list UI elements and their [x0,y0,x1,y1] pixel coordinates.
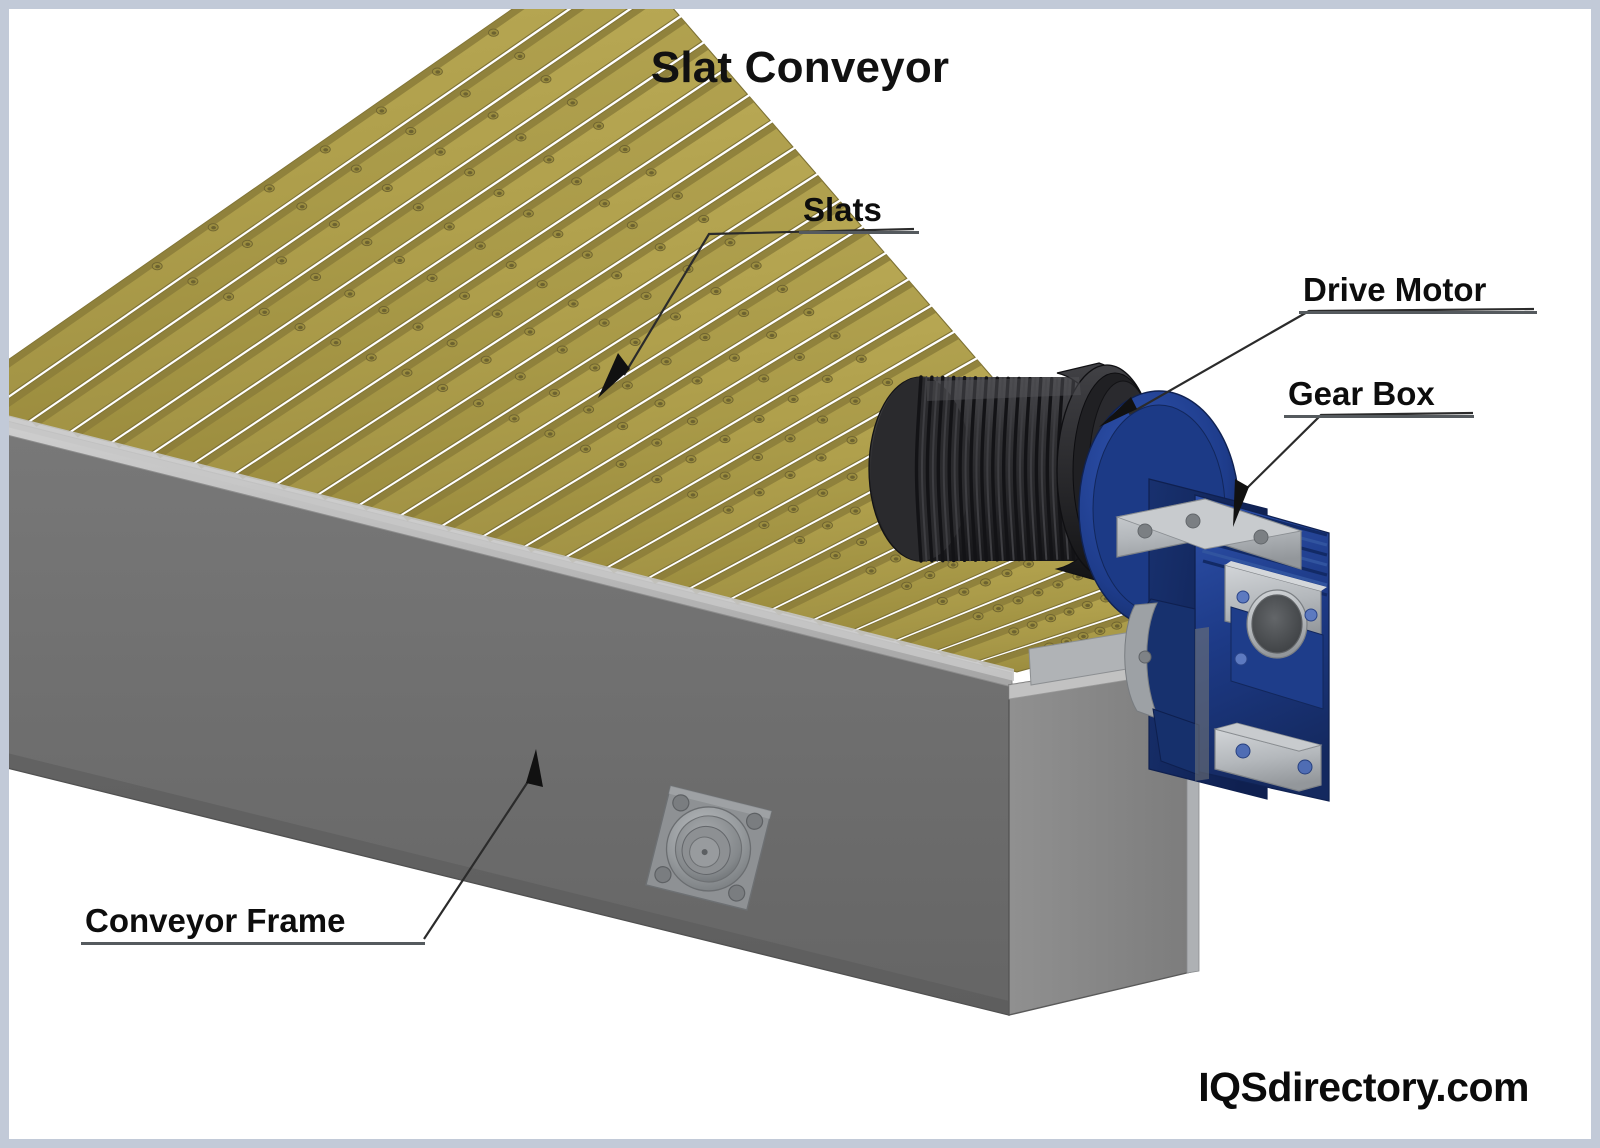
slat-screw [584,448,589,451]
callout-conveyor-frame: Conveyor Frame [81,904,425,945]
slat-screw [833,554,838,557]
slat-screw [928,574,933,577]
callout-slats-rule [799,231,919,234]
slat-screw [245,243,250,246]
callout-gear-box-label: Gear Box [1284,377,1474,415]
slat-screw [379,109,384,112]
slat-screw [478,244,483,247]
slat-screw [314,276,319,279]
slat-screw [155,265,160,268]
slat-screw [894,557,899,560]
slat-screw [819,456,824,459]
slat-screw [571,302,576,305]
slat-screw [860,541,865,544]
slat-screw [548,432,553,435]
slat-screw [497,192,502,195]
slat-screw [732,356,737,359]
slat-screw [450,342,455,345]
slat-screw [621,425,626,428]
slat-screw [833,334,838,337]
slat-screw [742,312,747,315]
slat-screw [951,563,956,566]
slat-screw [781,288,786,291]
slat-screw [354,167,359,170]
slat-screw [675,194,680,197]
slat-screw [484,359,489,362]
slat-screw [602,321,607,324]
slat-screw [1067,610,1072,613]
slat-screw [603,202,608,205]
slat-screw [528,330,533,333]
slat-screw [463,295,468,298]
slat-screw [702,218,707,221]
slat-screw [575,180,580,183]
slat-screw [1036,591,1041,594]
slat-screw [587,408,592,411]
slat-screw [703,336,708,339]
slat-screw [468,171,473,174]
slat-screw [348,292,353,295]
slat-screw [726,399,731,402]
slat-screw [300,205,305,208]
slat-screw [615,274,620,277]
slat-screw [623,148,628,151]
slat-screw [495,312,500,315]
slat-screw [762,377,767,380]
slat-screw [905,585,910,588]
slat-screw [886,381,891,384]
slat-screw [365,241,370,244]
slat-screw [547,158,552,161]
callout-drive-motor-rule [1299,311,1537,314]
slat-screw [658,246,663,249]
slat-screw [1085,604,1090,607]
slat-screw [597,125,602,128]
slat-screw [1027,563,1032,566]
slat-screw [825,378,830,381]
slat-screw [869,569,874,572]
slat-screw [1115,624,1120,627]
slat-screw [280,259,285,262]
slat-screw [1098,630,1103,633]
slat-screw [1012,630,1017,633]
callout-gear-box: Gear Box [1284,377,1474,418]
slat-screw [821,492,826,495]
slat-screw [788,474,793,477]
slat-screw [438,150,443,153]
slat-screw [770,334,775,337]
slat-screw [332,223,337,226]
callout-conveyor-frame-label: Conveyor Frame [81,904,425,942]
slat-screw [262,311,267,314]
slat-screw [267,187,272,190]
slat-screw [540,283,545,286]
slat-screw [518,375,523,378]
slat-screw [791,398,796,401]
slat-screw [726,508,731,511]
slat-screw [723,474,728,477]
conveyor-illustration [9,9,1591,1139]
slat-screw [821,418,826,421]
diagram-canvas: Slat Conveyor Slats Drive Motor Gear Box… [9,9,1591,1139]
slat-screw [691,420,696,423]
slat-screw [807,311,812,314]
slat-screw [791,508,796,511]
slat-screw [658,402,663,405]
slat-screw [695,379,700,382]
slat-screw [556,233,561,236]
slat-screw [416,206,421,209]
slat-screw [664,360,669,363]
slat-screw [850,476,855,479]
slat-screw [416,325,421,328]
slat-screw [728,241,733,244]
slat-screw [798,539,803,542]
slat-screw [492,31,497,34]
slat-screw [723,438,728,441]
slat-screw [859,358,864,361]
slat-screw [560,348,565,351]
slat-screw [1005,572,1010,575]
slat-screw [447,225,452,228]
slat-screw [754,264,759,267]
slat-screw [788,437,793,440]
callout-slats: Slats [799,193,919,234]
slat-screw [649,171,654,174]
slat-screw [625,384,630,387]
slat-screw [691,493,696,496]
callout-conveyor-frame-rule [81,942,425,945]
slat-screw [430,277,435,280]
slat-screw [850,439,855,442]
slat-screw [630,224,635,227]
slat-screw [644,295,649,298]
slat-screw [962,590,967,593]
slat-screw [1016,599,1021,602]
slat-screw [940,600,945,603]
callout-slats-label: Slats [799,193,919,231]
slat-screw [191,280,196,283]
slat-screw [853,509,858,512]
callout-gear-box-rule [1284,415,1474,418]
slat-screw [512,417,517,420]
slat-screw [757,491,762,494]
slat-screw [570,101,575,104]
slat-screw [826,524,831,527]
callout-drive-motor-label: Drive Motor [1299,273,1537,311]
slat-screw [585,253,590,256]
slat-screw [984,581,989,584]
slat-screw [1056,583,1061,586]
slat-conveyor-diagram: Slat Conveyor Slats Drive Motor Gear Box… [0,0,1600,1148]
slat-screw [633,341,638,344]
slat-screw [382,309,387,312]
slat-screw [519,136,524,139]
slat-screw [211,226,216,229]
slat-screw [593,366,598,369]
slat-screw [762,524,767,527]
slat-screw [526,212,531,215]
slat-screw [1030,624,1035,627]
slat-screw [674,315,679,318]
slat-screw [714,290,719,293]
slat-screw [398,259,403,262]
slat-screw [1081,635,1086,638]
slat-screw [996,607,1001,610]
slat-screw [491,114,496,117]
slat-screw [298,326,303,329]
slat-screw [976,615,981,618]
slat-screw [757,418,762,421]
slat-screw [334,341,339,344]
slat-screw [323,148,328,151]
slat-screw [655,441,660,444]
slat-screw [756,456,761,459]
slat-screw [1049,617,1054,620]
slat-screw [409,130,414,133]
slat-screw [853,400,858,403]
slat-screw [441,387,446,390]
slat-screw [476,402,481,405]
slat-screw [509,264,514,267]
callout-drive-motor: Drive Motor [1299,273,1537,314]
slat-screw [385,187,390,190]
slat-screw [797,356,802,359]
slat-screw [405,371,410,374]
page-title: Slat Conveyor [9,43,1591,93]
slat-screw [686,268,691,271]
slat-screw [689,458,694,461]
slat-screw [553,392,558,395]
slat-screw [655,478,660,481]
watermark-iqs: IQSdirectory.com [1198,1064,1529,1111]
slat-screw [227,295,232,298]
slat-screw [619,463,624,466]
slat-screw [369,356,374,359]
